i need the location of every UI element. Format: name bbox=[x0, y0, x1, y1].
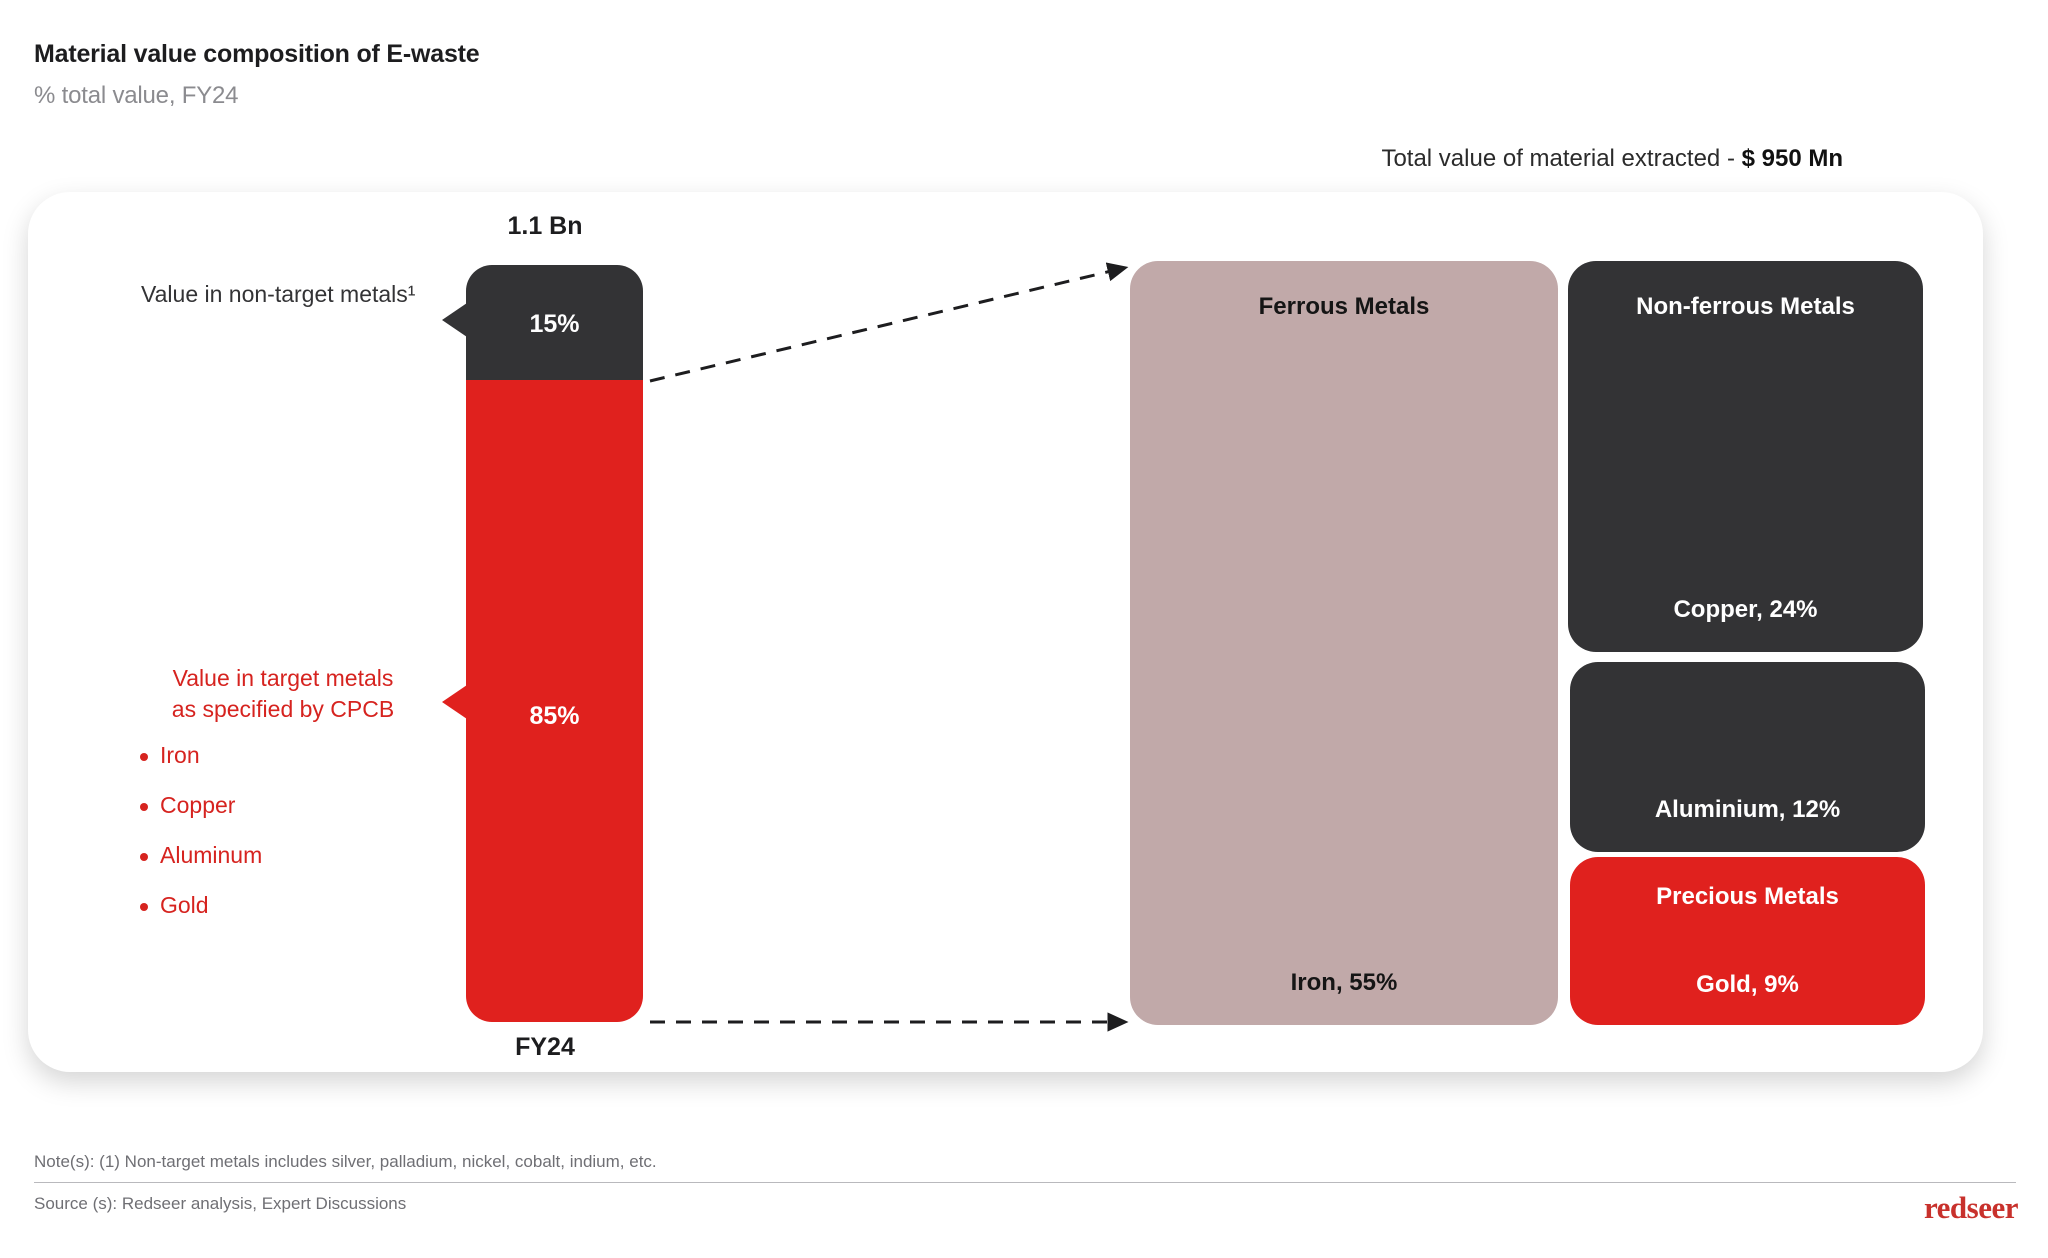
panel-non-ferrous-metals-value: Copper, 24% bbox=[1568, 596, 1923, 624]
bar-segment-target-value: 85% bbox=[466, 702, 643, 731]
panel-aluminium: Aluminium, 12% bbox=[1570, 662, 1925, 852]
bar-segment-non-target-value: 15% bbox=[466, 310, 643, 339]
total-value-amount: $ 950 Mn bbox=[1742, 145, 1843, 172]
panel-precious-metals: Precious Metals Gold, 9% bbox=[1570, 857, 1925, 1025]
list-item: Iron bbox=[138, 742, 428, 769]
list-item: Gold bbox=[138, 892, 428, 919]
callout-pointer-non-target-icon bbox=[442, 303, 467, 337]
panel-aluminium-value: Aluminium, 12% bbox=[1570, 796, 1925, 824]
label-target-metals-line2: as specified by CPCB bbox=[138, 694, 428, 725]
label-target-metals: Value in target metals as specified by C… bbox=[138, 663, 428, 724]
label-target-metals-line1: Value in target metals bbox=[138, 663, 428, 694]
panel-ferrous-metals-title: Ferrous Metals bbox=[1130, 293, 1558, 321]
page-subtitle: % total value, FY24 bbox=[34, 82, 238, 110]
page-title: Material value composition of E-waste bbox=[34, 40, 479, 69]
footer-divider bbox=[34, 1182, 2016, 1183]
bar-segment-target-metals: 85% bbox=[466, 380, 643, 1022]
list-item: Copper bbox=[138, 792, 428, 819]
callout-pointer-target-icon bbox=[442, 685, 467, 719]
stacked-bar-fy24: 15% 85% bbox=[466, 265, 643, 1022]
panel-non-ferrous-metals: Non-ferrous Metals Copper, 24% bbox=[1568, 261, 1923, 652]
panel-precious-metals-value: Gold, 9% bbox=[1570, 971, 1925, 999]
total-value-annotation: Total value of material extracted - $ 95… bbox=[1381, 145, 1843, 173]
panel-non-ferrous-metals-title: Non-ferrous Metals bbox=[1568, 293, 1923, 321]
list-item: Aluminum bbox=[138, 842, 428, 869]
panel-ferrous-metals: Ferrous Metals Iron, 55% bbox=[1130, 261, 1558, 1025]
bar-axis-label-fy24: FY24 bbox=[455, 1033, 635, 1062]
bar-segment-non-target-metals: 15% bbox=[466, 265, 643, 380]
footnote-notes: Note(s): (1) Non-target metals includes … bbox=[34, 1152, 657, 1172]
redseer-logo: redseer bbox=[1924, 1190, 2018, 1226]
footnote-source: Source (s): Redseer analysis, Expert Dis… bbox=[34, 1194, 406, 1214]
label-non-target-metals: Value in non-target metals¹ bbox=[141, 279, 421, 310]
panel-precious-metals-title: Precious Metals bbox=[1570, 883, 1925, 911]
target-metals-bullet-list: Iron Copper Aluminum Gold bbox=[138, 742, 428, 942]
bar-total-label: 1.1 Bn bbox=[455, 212, 635, 241]
total-value-prefix: Total value of material extracted - bbox=[1381, 145, 1741, 172]
panel-ferrous-metals-value: Iron, 55% bbox=[1130, 969, 1558, 997]
